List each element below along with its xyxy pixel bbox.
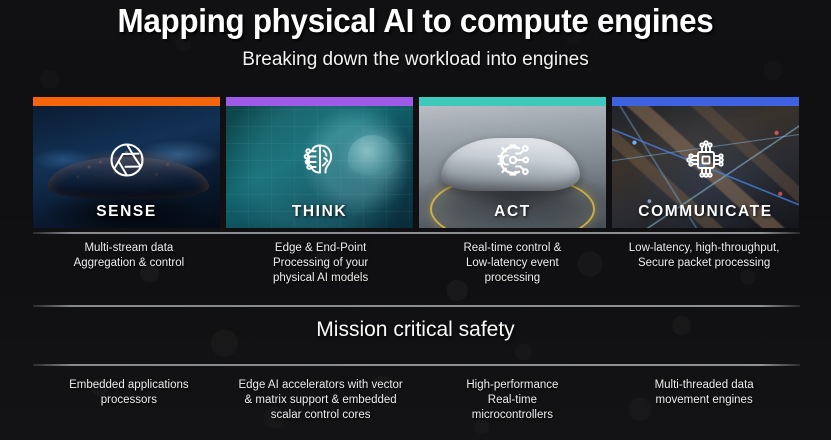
card-label-act: ACT — [419, 203, 606, 221]
card-accent-bar-think — [226, 97, 413, 106]
card-accent-bar-act — [419, 97, 606, 106]
description-communicate: Low-latency, high-throughput,Secure pack… — [608, 241, 800, 286]
product-communicate: Multi-threaded datamovement engines — [608, 378, 800, 423]
card-image-communicate: COMMUNICATE — [612, 106, 799, 228]
engine-cards-row: SENSE THINK — [33, 97, 799, 228]
card-label-think: THINK — [226, 203, 413, 221]
page-title: Mapping physical AI to compute engines — [21, 2, 810, 40]
divider-bottom — [33, 364, 800, 366]
divider-middle — [33, 305, 800, 307]
product-sense: Embedded applicationsprocessors — [33, 378, 225, 423]
card-label-communicate: COMMUNICATE — [612, 203, 799, 221]
page-subtitle: Breaking down the workload into engines — [0, 49, 831, 71]
engine-card-sense[interactable]: SENSE — [33, 97, 220, 228]
engine-card-act[interactable]: ACT — [419, 97, 606, 228]
description-act: Real-time control &Low-latency eventproc… — [417, 241, 609, 286]
microchip-icon — [682, 136, 730, 184]
card-image-act: ACT — [419, 106, 606, 228]
description-think: Edge & End-PointProcessing of yourphysic… — [225, 241, 417, 286]
card-image-sense: SENSE — [33, 106, 220, 228]
descriptions-row: Multi-stream dataAggregation & control E… — [33, 241, 800, 286]
description-sense: Multi-stream dataAggregation & control — [33, 241, 225, 286]
card-image-think: THINK — [226, 106, 413, 228]
card-accent-bar-sense — [33, 97, 220, 106]
slide-canvas: Mapping physical AI to compute engines B… — [0, 0, 831, 440]
products-row: Embedded applicationsprocessors Edge AI … — [33, 378, 800, 423]
ai-brain-circuit-icon — [296, 136, 344, 184]
engine-card-think[interactable]: THINK — [226, 97, 413, 228]
engine-card-communicate[interactable]: COMMUNICATE — [612, 97, 799, 228]
gear-circuit-icon — [489, 136, 537, 184]
product-think: Edge AI accelerators with vector& matrix… — [225, 378, 417, 423]
card-accent-bar-communicate — [612, 97, 799, 106]
mission-critical-safety-heading: Mission critical safety — [0, 318, 831, 342]
divider-top — [33, 232, 800, 234]
card-label-sense: SENSE — [33, 203, 220, 221]
camera-aperture-icon — [103, 136, 151, 184]
product-act: High-performanceReal-timemicrocontroller… — [417, 378, 609, 423]
